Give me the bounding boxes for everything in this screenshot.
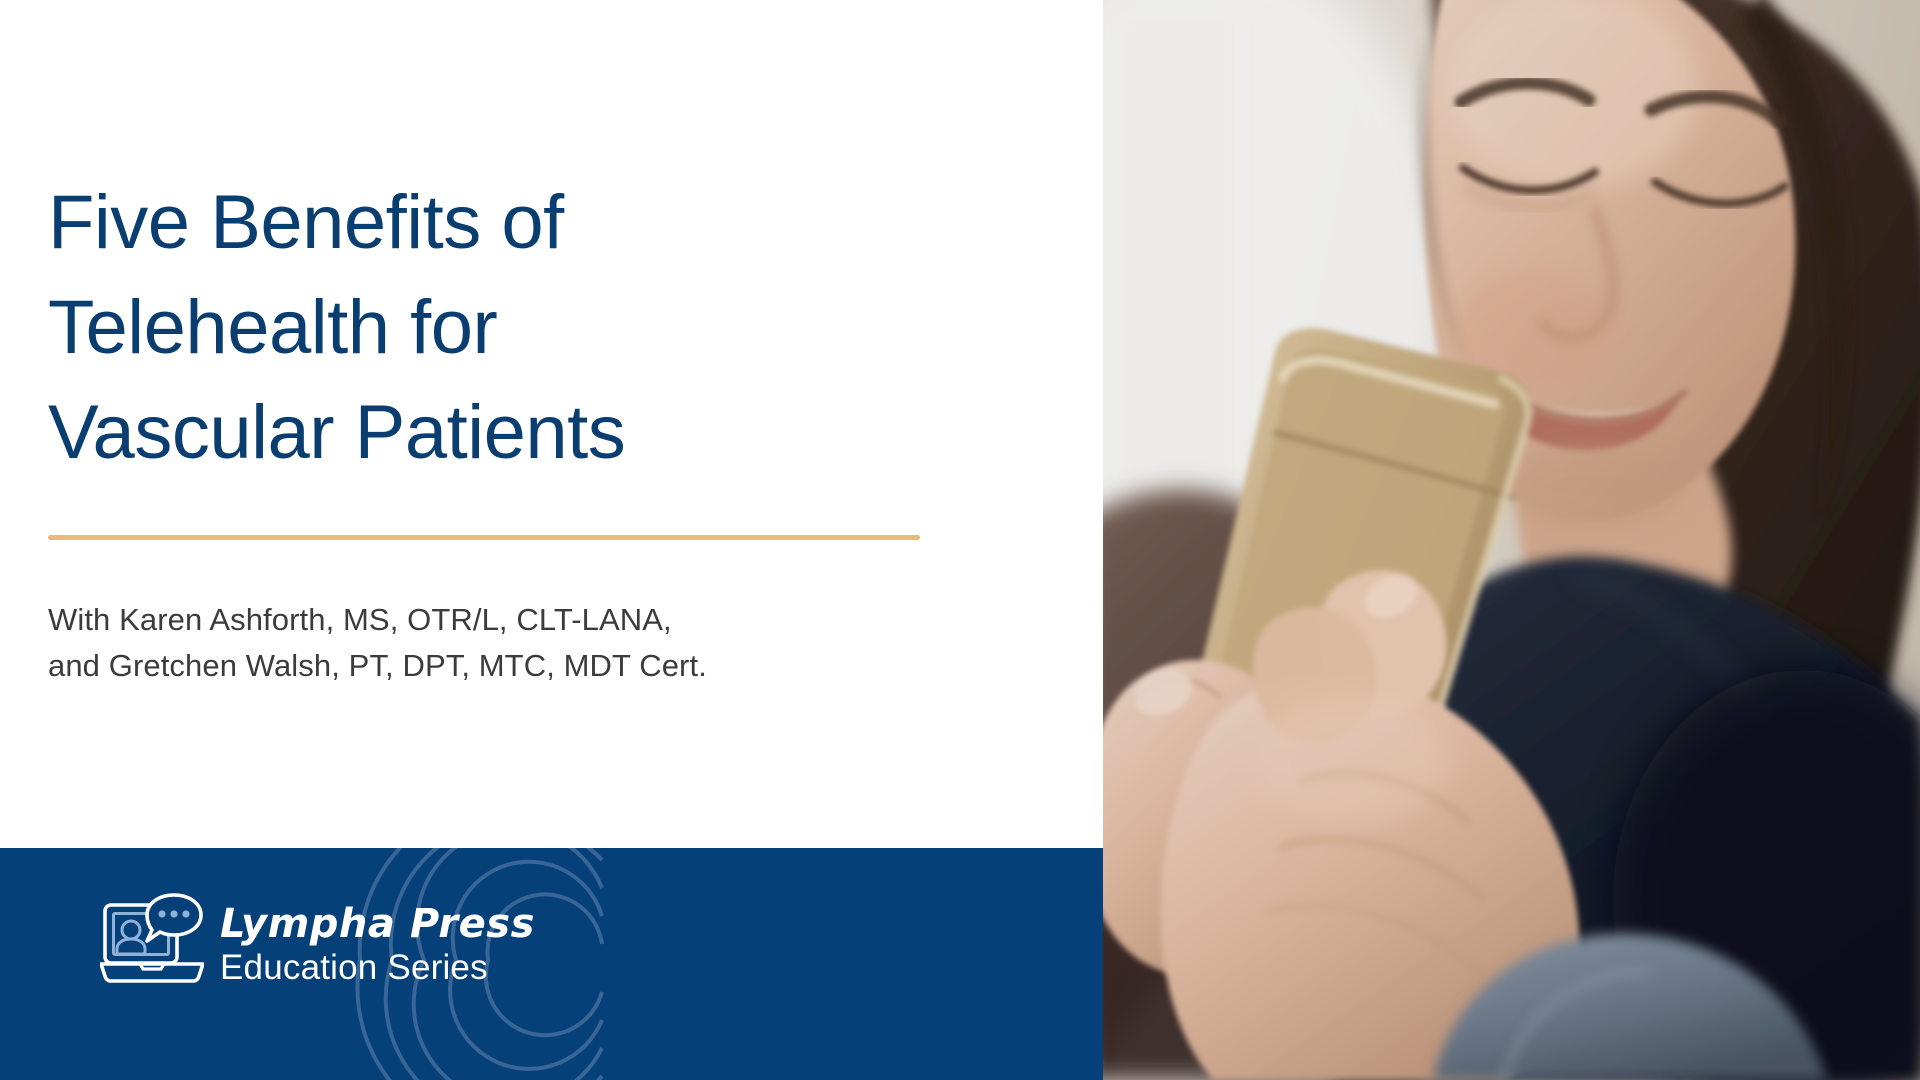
lympha-press-logo[interactable]: Lympha Press Education Series	[100, 892, 535, 992]
presenter-byline: With Karen Ashforth, MS, OTR/L, CLT-LANA…	[48, 597, 948, 689]
title-block: Five Benefits of Telehealth for Vascular…	[48, 170, 928, 485]
brand-name: Lympha Press	[220, 902, 535, 946]
gold-divider-rule	[48, 535, 920, 540]
footer-brand-bar: Lympha Press Education Series	[0, 848, 1103, 1080]
hero-photo	[1103, 0, 1920, 1080]
laptop-video-chat-icon	[100, 892, 204, 992]
presentation-slide: Five Benefits of Telehealth for Vascular…	[0, 0, 1920, 1080]
brand-subtitle: Education Series	[220, 948, 535, 988]
hero-photo-illustration	[1103, 0, 1920, 1080]
page-title: Five Benefits of Telehealth for Vascular…	[48, 170, 928, 485]
logo-wordmark: Lympha Press Education Series	[220, 892, 535, 988]
